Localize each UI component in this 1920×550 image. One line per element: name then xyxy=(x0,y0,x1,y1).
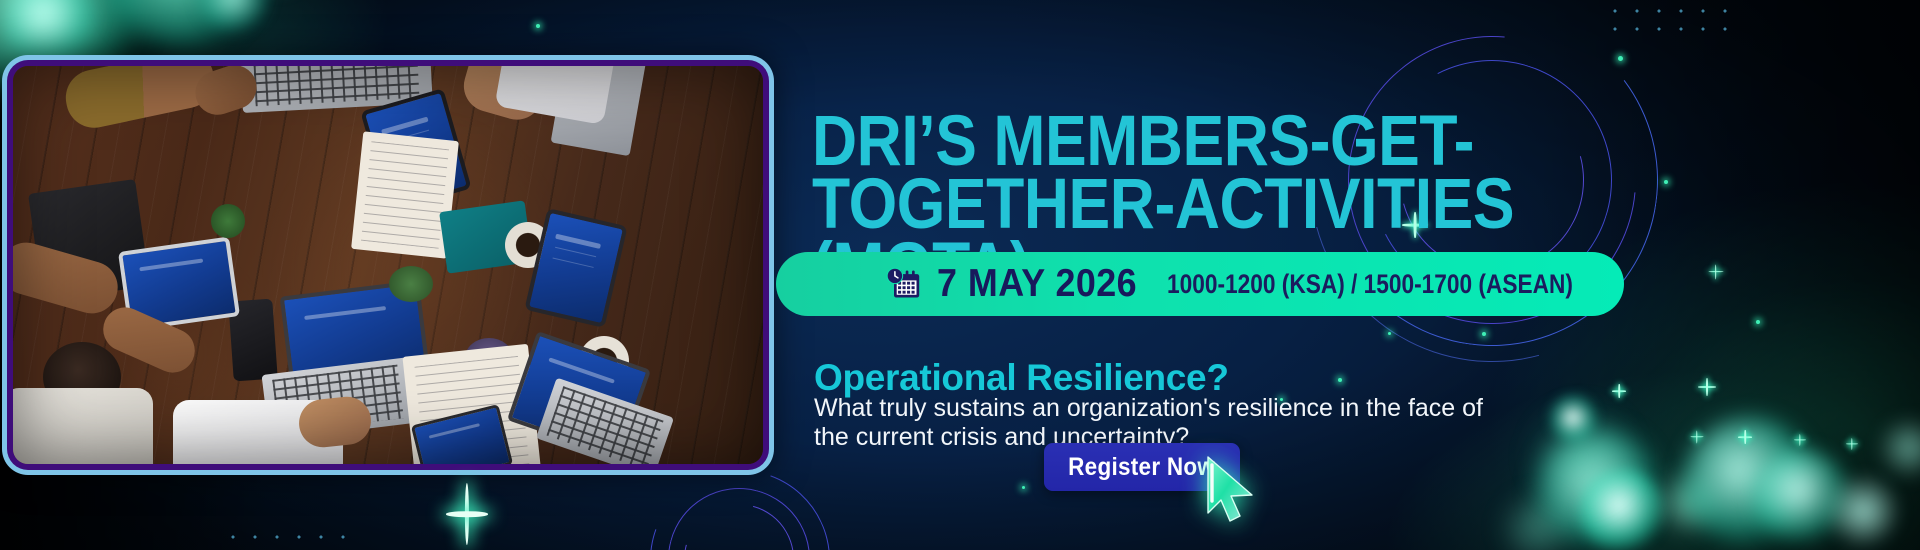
event-promo-banner: DRI’S MEMBERS-GET-TOGETHER-ACTIVITIES (M… xyxy=(0,0,1920,550)
team-collaboration-photo xyxy=(2,55,774,475)
photo-image xyxy=(13,66,763,464)
register-now-button[interactable]: Register Now xyxy=(1044,443,1240,491)
banner-content: DRI’S MEMBERS-GET-TOGETHER-ACTIVITIES (M… xyxy=(812,0,1920,550)
subheading: Operational Resilience? xyxy=(814,357,1229,399)
sparkle-below-photo xyxy=(446,483,488,545)
photo-shadow-overlay xyxy=(13,66,763,464)
register-now-label: Register Now xyxy=(1068,453,1215,482)
photo-inner-frame xyxy=(7,60,769,470)
date-time-badge: 7 MAY 2026 1000-1200 (KSA) / 1500-1700 (… xyxy=(776,252,1624,316)
event-time: 1000-1200 (KSA) / 1500-1700 (ASEAN) xyxy=(1167,269,1573,300)
event-date: 7 MAY 2026 xyxy=(937,262,1137,306)
calendar-clock-icon xyxy=(885,267,921,301)
